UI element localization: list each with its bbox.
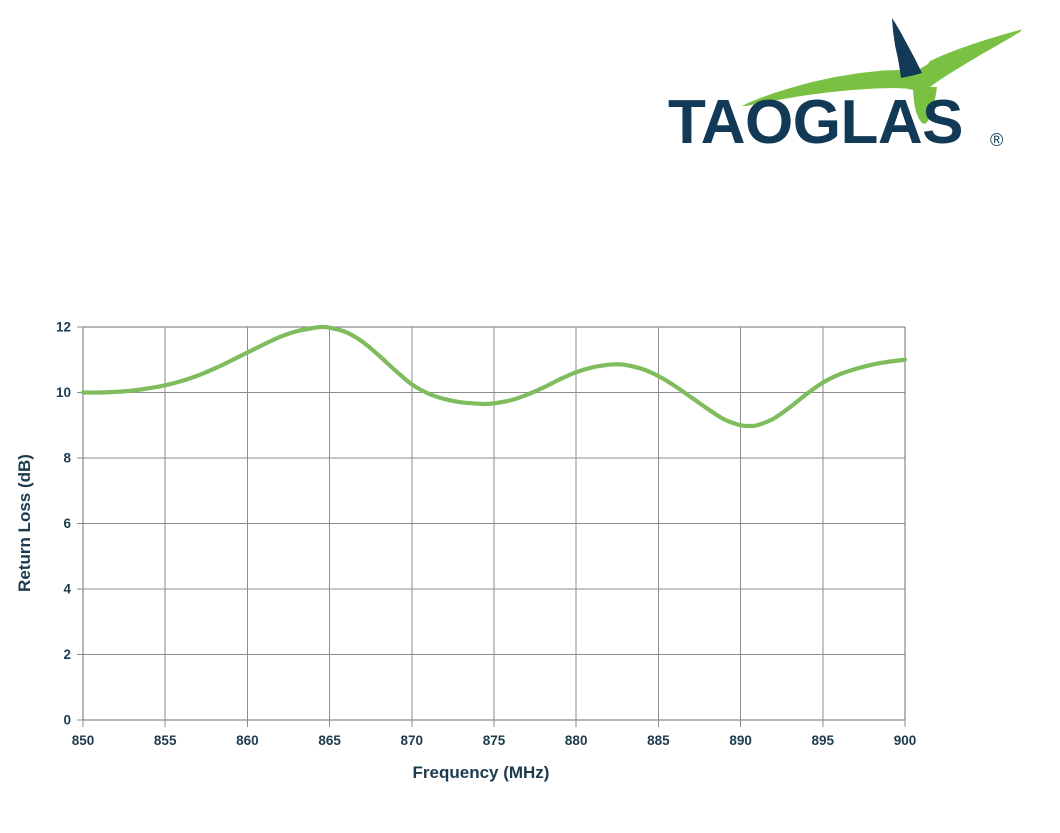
x-tick-label: 900 bbox=[894, 733, 917, 748]
x-axis-title: Frequency (MHz) bbox=[413, 763, 550, 782]
x-tick-label: 890 bbox=[729, 733, 752, 748]
x-tick-label: 870 bbox=[401, 733, 424, 748]
y-axis-title: Return Loss (dB) bbox=[15, 454, 34, 592]
chart-svg: 850855860865870875880885890895900 024681… bbox=[0, 280, 1060, 820]
y-tick-label: 0 bbox=[63, 713, 71, 728]
y-tick-label: 6 bbox=[63, 516, 71, 531]
x-tick-label: 860 bbox=[236, 733, 259, 748]
taoglas-logo: TAOGLAS ® bbox=[660, 4, 1052, 156]
x-axis-tick-labels: 850855860865870875880885890895900 bbox=[72, 733, 917, 748]
y-tick-label: 12 bbox=[56, 320, 71, 335]
registered-mark: ® bbox=[990, 130, 1003, 150]
x-tick-label: 880 bbox=[565, 733, 588, 748]
y-tick-label: 4 bbox=[63, 582, 71, 597]
y-axis-tick-labels: 024681012 bbox=[56, 320, 72, 728]
x-tick-label: 865 bbox=[318, 733, 341, 748]
x-tick-label: 855 bbox=[154, 733, 177, 748]
x-tick-label: 850 bbox=[72, 733, 95, 748]
star-green-right-wing bbox=[928, 30, 1022, 88]
x-tick-label: 885 bbox=[647, 733, 670, 748]
x-tick-label: 875 bbox=[483, 733, 506, 748]
taoglas-logo-svg: TAOGLAS ® bbox=[660, 4, 1052, 156]
chart-tickmarks bbox=[77, 327, 905, 727]
chart-gridlines bbox=[83, 327, 905, 720]
star-navy-spike bbox=[892, 18, 922, 78]
y-tick-label: 8 bbox=[63, 451, 71, 466]
brand-wordmark: TAOGLAS bbox=[668, 88, 963, 156]
y-tick-label: 10 bbox=[56, 385, 71, 400]
return-loss-chart: 850855860865870875880885890895900 024681… bbox=[0, 280, 1060, 820]
x-tick-label: 895 bbox=[812, 733, 835, 748]
y-tick-label: 2 bbox=[63, 647, 71, 662]
